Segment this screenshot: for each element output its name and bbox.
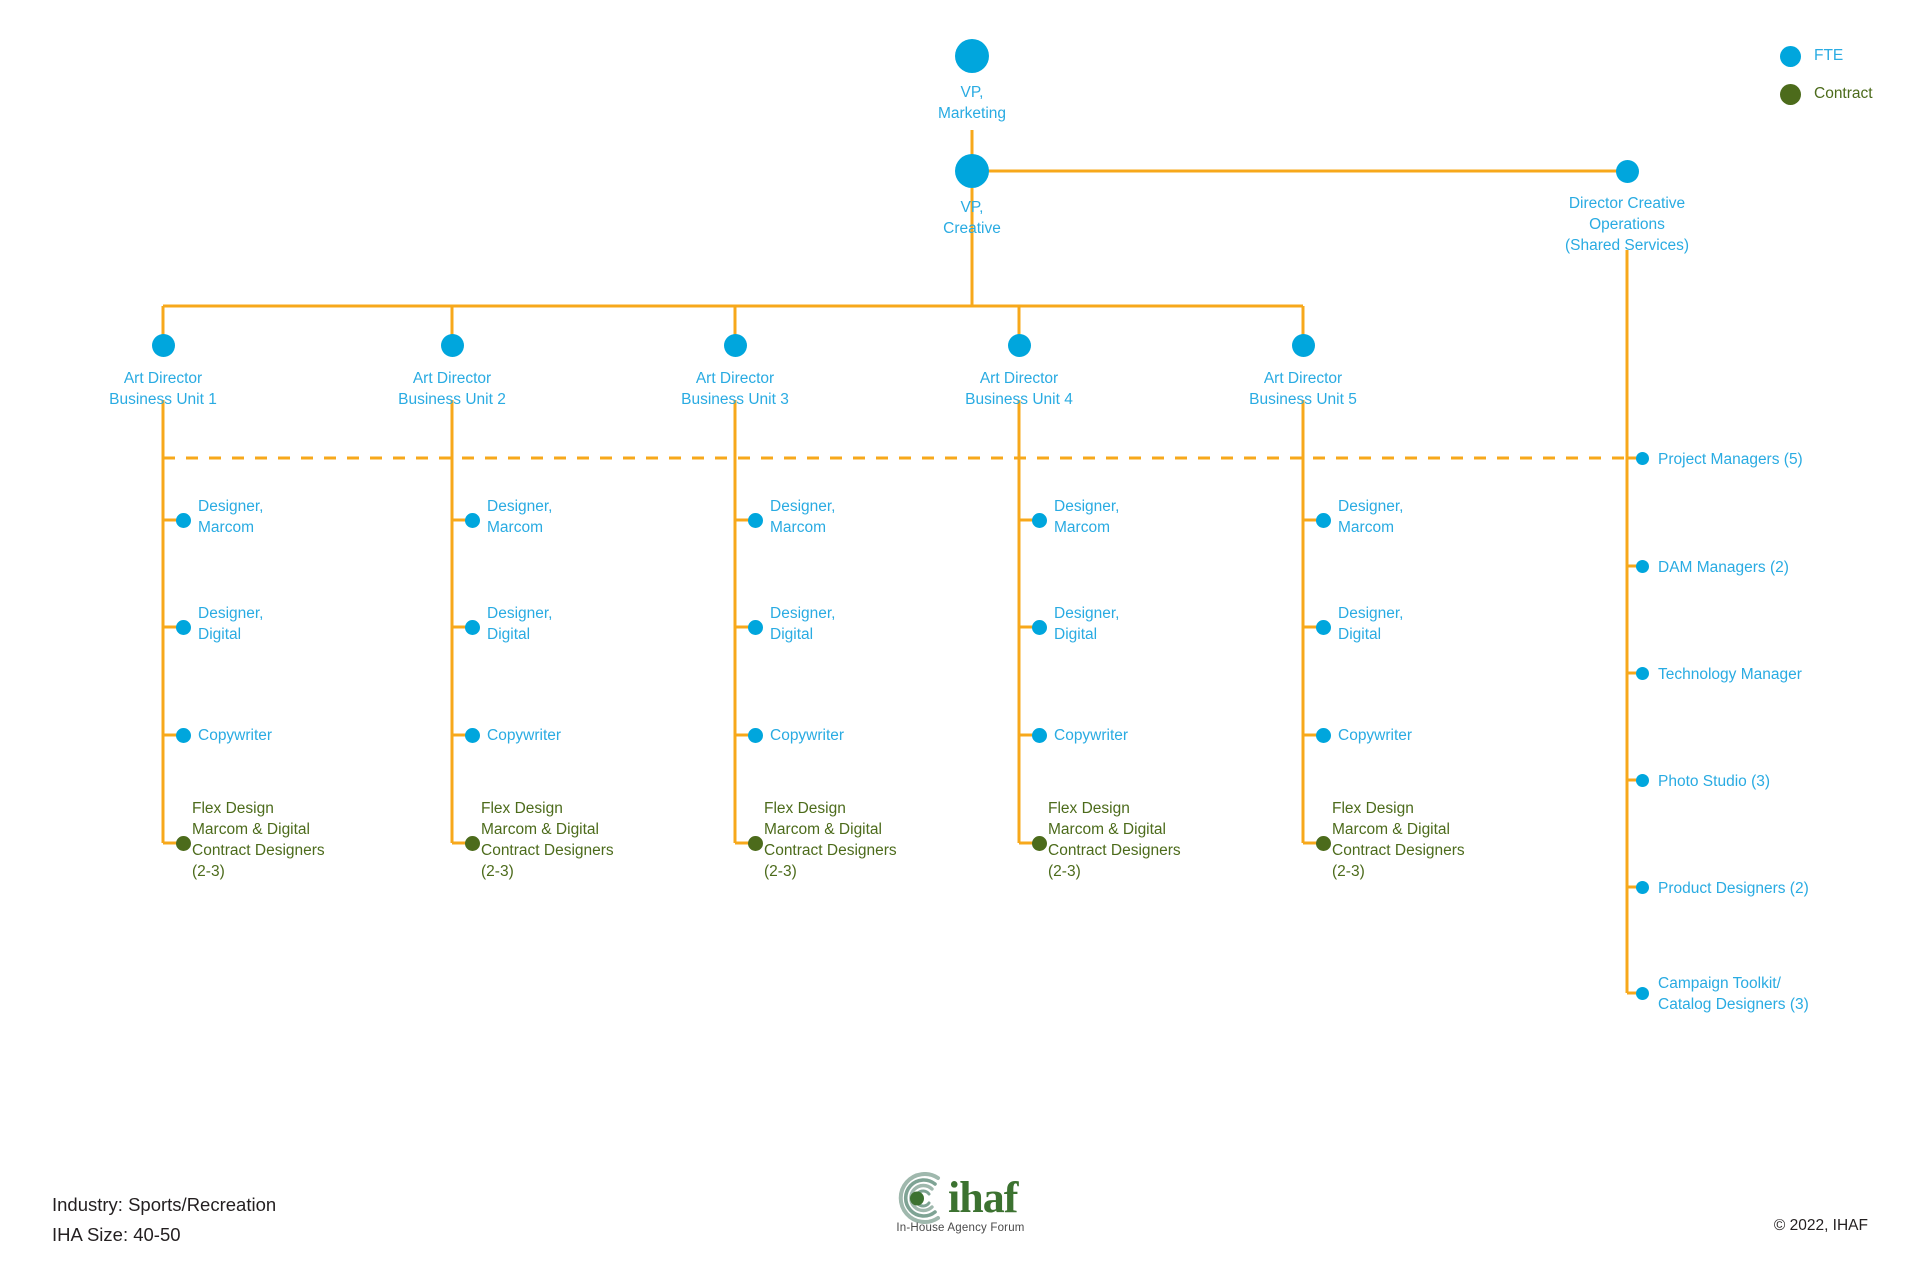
label-director-creative-operations: Director Creative Operations (Shared Ser… — [1477, 193, 1777, 256]
label-bu2-copywriter: Copywriter — [487, 725, 677, 746]
node-bu1-copywriter[interactable] — [176, 728, 191, 743]
node-bu1-designer-digital[interactable] — [176, 620, 191, 635]
node-product-designers[interactable] — [1636, 881, 1649, 894]
label-bu3-flex-design-contract: Flex Design Marcom & Digital Contract De… — [764, 798, 964, 882]
node-bu4-designer-digital[interactable] — [1032, 620, 1047, 635]
node-bu4-flex-design-contract[interactable] — [1032, 836, 1047, 851]
label-project-managers: Project Managers (5) — [1658, 449, 1908, 470]
node-art-director-4[interactable] — [1008, 334, 1031, 357]
label-bu5-designer-marcom: Designer, Marcom — [1338, 496, 1528, 538]
label-art-director-3: Art Director Business Unit 3 — [605, 368, 865, 410]
label-technology-manager: Technology Manager — [1658, 664, 1908, 685]
org-chart-canvas: FTE Contract VP, Marketing VP, Creative … — [0, 0, 1920, 1280]
node-bu4-designer-marcom[interactable] — [1032, 513, 1047, 528]
label-art-director-5: Art Director Business Unit 5 — [1173, 368, 1433, 410]
footer-industry: Industry: Sports/Recreation — [52, 1190, 276, 1220]
label-art-director-1: Art Director Business Unit 1 — [33, 368, 293, 410]
label-art-director-4: Art Director Business Unit 4 — [889, 368, 1149, 410]
node-art-director-2[interactable] — [441, 334, 464, 357]
node-bu2-copywriter[interactable] — [465, 728, 480, 743]
legend-label-contract: Contract — [1814, 83, 1873, 104]
footer-copyright: © 2022, IHAF — [1774, 1217, 1868, 1235]
ihaf-tagline: In-House Agency Forum — [888, 1222, 1033, 1234]
ihaf-logo: ihaf In-House Agency Forum — [888, 1172, 1033, 1244]
node-vp-marketing[interactable] — [955, 39, 989, 73]
label-bu4-designer-digital: Designer, Digital — [1054, 603, 1244, 645]
node-project-managers[interactable] — [1636, 452, 1649, 465]
node-bu3-designer-marcom[interactable] — [748, 513, 763, 528]
legend-dot-fte-icon — [1780, 46, 1801, 67]
footer-iha-size: IHA Size: 40-50 — [52, 1220, 276, 1250]
node-campaign-toolkit-designers[interactable] — [1636, 987, 1649, 1000]
node-dam-managers[interactable] — [1636, 560, 1649, 573]
node-bu5-copywriter[interactable] — [1316, 728, 1331, 743]
label-bu1-designer-digital: Designer, Digital — [198, 603, 388, 645]
node-technology-manager[interactable] — [1636, 667, 1649, 680]
label-bu5-flex-design-contract: Flex Design Marcom & Digital Contract De… — [1332, 798, 1532, 882]
node-bu5-designer-marcom[interactable] — [1316, 513, 1331, 528]
node-bu3-copywriter[interactable] — [748, 728, 763, 743]
label-bu2-designer-digital: Designer, Digital — [487, 603, 677, 645]
node-bu3-flex-design-contract[interactable] — [748, 836, 763, 851]
node-bu2-designer-digital[interactable] — [465, 620, 480, 635]
legend-label-fte: FTE — [1814, 45, 1843, 66]
node-bu5-flex-design-contract[interactable] — [1316, 836, 1331, 851]
node-bu3-designer-digital[interactable] — [748, 620, 763, 635]
node-bu2-designer-marcom[interactable] — [465, 513, 480, 528]
node-art-director-5[interactable] — [1292, 334, 1315, 357]
label-bu4-designer-marcom: Designer, Marcom — [1054, 496, 1244, 538]
label-bu2-designer-marcom: Designer, Marcom — [487, 496, 677, 538]
label-bu5-designer-digital: Designer, Digital — [1338, 603, 1528, 645]
label-vp-marketing: VP, Marketing — [842, 82, 1102, 124]
node-bu5-designer-digital[interactable] — [1316, 620, 1331, 635]
node-art-director-3[interactable] — [724, 334, 747, 357]
label-photo-studio: Photo Studio (3) — [1658, 771, 1908, 792]
label-bu2-flex-design-contract: Flex Design Marcom & Digital Contract De… — [481, 798, 681, 882]
label-product-designers: Product Designers (2) — [1658, 878, 1908, 899]
label-bu4-flex-design-contract: Flex Design Marcom & Digital Contract De… — [1048, 798, 1248, 882]
label-vp-creative: VP, Creative — [842, 197, 1102, 239]
node-photo-studio[interactable] — [1636, 774, 1649, 787]
node-art-director-1[interactable] — [152, 334, 175, 357]
label-bu4-copywriter: Copywriter — [1054, 725, 1244, 746]
ihaf-swirl-icon — [888, 1172, 946, 1226]
label-bu1-designer-marcom: Designer, Marcom — [198, 496, 388, 538]
label-dam-managers: DAM Managers (2) — [1658, 557, 1908, 578]
node-bu1-designer-marcom[interactable] — [176, 513, 191, 528]
label-bu3-designer-digital: Designer, Digital — [770, 603, 960, 645]
label-bu1-copywriter: Copywriter — [198, 725, 388, 746]
node-bu2-flex-design-contract[interactable] — [465, 836, 480, 851]
node-vp-creative[interactable] — [955, 154, 989, 188]
node-bu4-copywriter[interactable] — [1032, 728, 1047, 743]
label-campaign-toolkit-designers: Campaign Toolkit/ Catalog Designers (3) — [1658, 973, 1908, 1015]
footer-meta: Industry: Sports/Recreation IHA Size: 40… — [52, 1190, 276, 1250]
label-bu3-copywriter: Copywriter — [770, 725, 960, 746]
node-bu1-flex-design-contract[interactable] — [176, 836, 191, 851]
ihaf-wordmark: ihaf — [948, 1176, 1017, 1220]
label-bu1-flex-design-contract: Flex Design Marcom & Digital Contract De… — [192, 798, 392, 882]
node-director-creative-operations[interactable] — [1616, 160, 1639, 183]
label-art-director-2: Art Director Business Unit 2 — [322, 368, 582, 410]
legend-dot-contract-icon — [1780, 84, 1801, 105]
label-bu5-copywriter: Copywriter — [1338, 725, 1528, 746]
label-bu3-designer-marcom: Designer, Marcom — [770, 496, 960, 538]
